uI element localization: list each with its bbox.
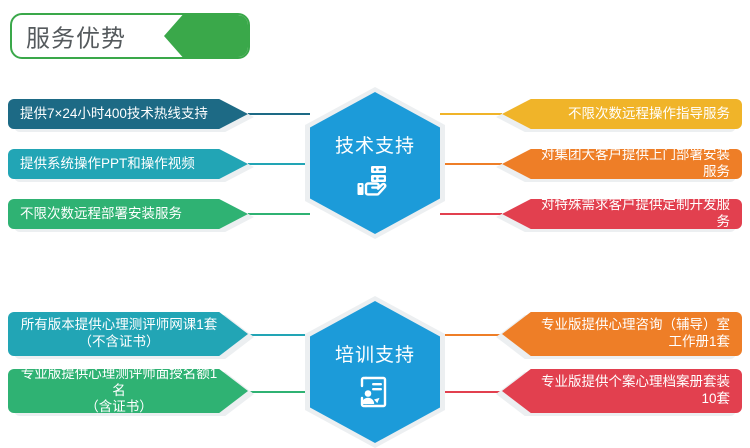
feature-label-text: 提供系统操作PPT和操作视频 — [8, 156, 248, 173]
feature-label-text: 对集团大客户提供上门部署安装服务 — [502, 147, 742, 181]
person-certificate-icon — [305, 374, 445, 410]
connector-line-left-5 — [248, 391, 310, 393]
hub-label: 技术支持 — [305, 131, 445, 158]
feature-label-text: 对特殊需求客户提供定制开发服务 — [502, 197, 742, 231]
feature-label-left-4[interactable]: 所有版本提供心理测评师网课1套 （不含证书） — [8, 312, 248, 356]
connector-line-left-3 — [248, 213, 310, 215]
feature-label-right-5[interactable]: 专业版提供个案心理档案册套装10套 — [502, 369, 742, 413]
feature-label-left-3[interactable]: 不限次数远程部署安装服务 — [8, 199, 248, 229]
connector-line-right-2 — [440, 163, 502, 165]
feature-label-text: 所有版本提供心理测评师网课1套 （不含证书） — [8, 317, 248, 351]
server-hand-icon — [305, 165, 445, 199]
connector-line-left-2 — [248, 163, 310, 165]
header-arrow-flag — [164, 15, 248, 57]
feature-label-left-2[interactable]: 提供系统操作PPT和操作视频 — [8, 149, 248, 179]
feature-label-text: 提供7×24小时400技术热线支持 — [8, 106, 248, 123]
hub-technical-support[interactable]: 技术支持 — [305, 87, 445, 239]
feature-label-right-4[interactable]: 专业版提供心理咨询（辅导）室 工作册1套 — [502, 312, 742, 356]
connector-line-left-1 — [248, 113, 310, 115]
section-header-badge: 服务优势 — [10, 13, 250, 59]
connector-line-left-4 — [248, 334, 310, 336]
connector-line-right-3 — [440, 213, 502, 215]
feature-label-left-5[interactable]: 专业版提供心理测评师面授名额1名 （含证书） — [8, 369, 248, 413]
feature-label-right-1[interactable]: 不限次数远程操作指导服务 — [502, 99, 742, 129]
connector-line-right-5 — [440, 391, 502, 393]
feature-label-text: 专业版提供心理咨询（辅导）室 工作册1套 — [502, 317, 742, 351]
connector-line-right-1 — [440, 113, 502, 115]
connector-line-right-4 — [440, 334, 502, 336]
feature-label-text: 专业版提供个案心理档案册套装10套 — [502, 374, 742, 408]
feature-label-left-1[interactable]: 提供7×24小时400技术热线支持 — [8, 99, 248, 129]
feature-label-right-3[interactable]: 对特殊需求客户提供定制开发服务 — [502, 199, 742, 229]
feature-label-right-2[interactable]: 对集团大客户提供上门部署安装服务 — [502, 149, 742, 179]
feature-label-text: 不限次数远程操作指导服务 — [502, 106, 742, 123]
feature-label-text: 不限次数远程部署安装服务 — [8, 206, 248, 223]
hub-label: 培训支持 — [305, 340, 445, 367]
page-title: 服务优势 — [26, 19, 126, 54]
hub-training-support[interactable]: 培训支持 — [305, 296, 445, 448]
feature-label-text: 专业版提供心理测评师面授名额1名 （含证书） — [8, 366, 248, 417]
